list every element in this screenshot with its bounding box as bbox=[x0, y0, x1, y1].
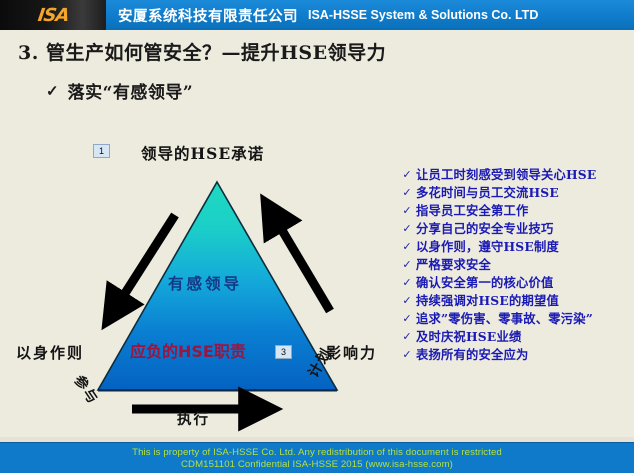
list-item: ✓及时庆祝HSE业绩 bbox=[398, 328, 634, 345]
list-item-label: 分享自己的安全专业技巧 bbox=[416, 220, 634, 237]
check-icon: ✓ bbox=[398, 220, 416, 237]
label-execute: 执行 bbox=[177, 408, 210, 429]
isa-logo-text: ISA bbox=[36, 5, 70, 26]
company-name-en: ISA-HSSE System & Solutions Co. LTD bbox=[308, 8, 538, 22]
list-item-label: 严格要求安全 bbox=[416, 256, 634, 273]
check-icon: ✓ bbox=[398, 292, 416, 309]
list-item: ✓让员工时刻感受到领导关心HSE bbox=[398, 166, 634, 183]
triangle-text-felt-leadership: 有感领导 bbox=[168, 272, 242, 294]
list-item-label: 及时庆祝HSE业绩 bbox=[416, 328, 634, 345]
list-item: ✓严格要求安全 bbox=[398, 256, 634, 273]
list-item-label: 多花时间与员工交流HSE bbox=[416, 184, 634, 201]
list-item: ✓分享自己的安全专业技巧 bbox=[398, 220, 634, 237]
list-item-label: 表扬所有的安全应为 bbox=[416, 346, 634, 363]
list-item-label: 确认安全第一的核心价值 bbox=[416, 274, 634, 291]
check-icon: ✓ bbox=[46, 82, 59, 100]
list-item: ✓确认安全第一的核心价值 bbox=[398, 274, 634, 291]
slide-header: ISA 安厦系统科技有限责任公司 ISA-HSSE System & Solut… bbox=[0, 0, 634, 30]
list-item-label: 让员工时刻感受到领导关心HSE bbox=[416, 166, 634, 183]
number-chip-3[interactable]: 3 bbox=[275, 345, 292, 359]
header-title-bar: 安厦系统科技有限责任公司 ISA-HSSE System & Solutions… bbox=[106, 0, 634, 30]
slide-title: 3. 管生产如何管安全？—提升HSE领导力 bbox=[18, 38, 386, 65]
label-hse-commitment: 领导的HSE承诺 bbox=[141, 142, 264, 164]
slide-subtitle: 落实“有感领导” bbox=[68, 78, 194, 103]
isa-logo: ISA bbox=[0, 0, 106, 30]
bullet-list: ✓让员工时刻感受到领导关心HSE✓多花时间与员工交流HSE✓指导员工安全第工作✓… bbox=[398, 166, 634, 364]
list-item: ✓持续强调对HSE的期望值 bbox=[398, 292, 634, 309]
list-item: ✓表扬所有的安全应为 bbox=[398, 346, 634, 363]
list-item-label: 持续强调对HSE的期望值 bbox=[416, 292, 634, 309]
triangle-text-hse-duty: 应负的HSE职责 bbox=[130, 338, 246, 362]
slide-footer: This is property of ISA-HSSE Co. Ltd. An… bbox=[0, 442, 634, 473]
list-item: ✓多花时间与员工交流HSE bbox=[398, 184, 634, 201]
list-item: ✓以身作则，遵守HSE制度 bbox=[398, 238, 634, 255]
company-name-cn: 安厦系统科技有限责任公司 bbox=[118, 5, 298, 26]
list-item-label: 指导员工安全第工作 bbox=[416, 202, 634, 219]
check-icon: ✓ bbox=[398, 202, 416, 219]
list-item-label: 以身作则，遵守HSE制度 bbox=[416, 238, 634, 255]
check-icon: ✓ bbox=[398, 166, 416, 183]
footer-line-1: This is property of ISA-HSSE Co. Ltd. An… bbox=[132, 447, 502, 458]
check-icon: ✓ bbox=[398, 310, 416, 327]
check-icon: ✓ bbox=[398, 274, 416, 291]
list-item: ✓追求”零伤害、零事故、零污染” bbox=[398, 310, 634, 327]
check-icon: ✓ bbox=[398, 184, 416, 201]
leadership-triangle-diagram: 领导的HSE承诺 以身作则 影响力 执行 参与 计划 有感领导 应负的HSE职责… bbox=[0, 136, 396, 436]
slide-subtitle-row: ✓ 落实“有感领导” bbox=[46, 78, 193, 103]
check-icon: ✓ bbox=[398, 346, 416, 363]
number-chip-1[interactable]: 1 bbox=[93, 144, 110, 158]
list-item-label: 追求”零伤害、零事故、零污染” bbox=[416, 310, 634, 327]
check-icon: ✓ bbox=[398, 256, 416, 273]
list-item: ✓指导员工安全第工作 bbox=[398, 202, 634, 219]
slide-canvas: ISA 安厦系统科技有限责任公司 ISA-HSSE System & Solut… bbox=[0, 0, 634, 473]
footer-line-2: CDM151101 Confidential ISA-HSSE 2015 (ww… bbox=[181, 459, 453, 470]
label-lead-by-example: 以身作则 bbox=[16, 342, 84, 363]
check-icon: ✓ bbox=[398, 238, 416, 255]
check-icon: ✓ bbox=[398, 328, 416, 345]
